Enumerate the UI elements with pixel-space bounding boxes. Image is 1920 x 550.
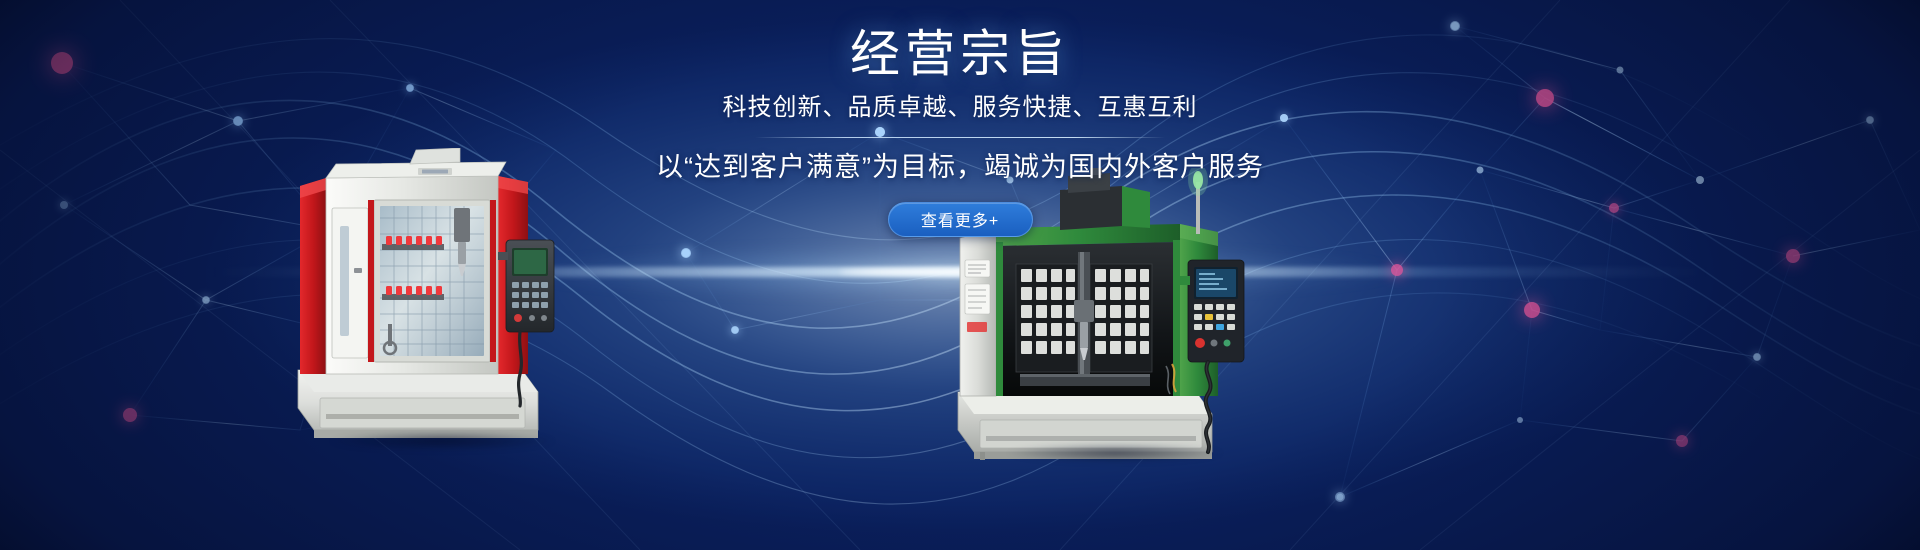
view-more-button[interactable]: 查看更多+ [888,202,1033,237]
banner-content: 经营宗旨 科技创新、品质卓越、服务快捷、互惠互利 以“达到客户满意”为目标，竭诚… [0,0,1920,550]
banner-subtitle: 科技创新、品质卓越、服务快捷、互惠互利 [723,92,1198,123]
page-title: 经营宗旨 [850,26,1070,82]
view-more-label: 查看更多+ [921,207,999,231]
banner-tagline: 以“达到客户满意”为目标，竭诚为国内外客户服务 [656,151,1264,185]
hero-banner: 经营宗旨 科技创新、品质卓越、服务快捷、互惠互利 以“达到客户满意”为目标，竭诚… [0,0,1920,550]
text-divider [755,137,1165,138]
